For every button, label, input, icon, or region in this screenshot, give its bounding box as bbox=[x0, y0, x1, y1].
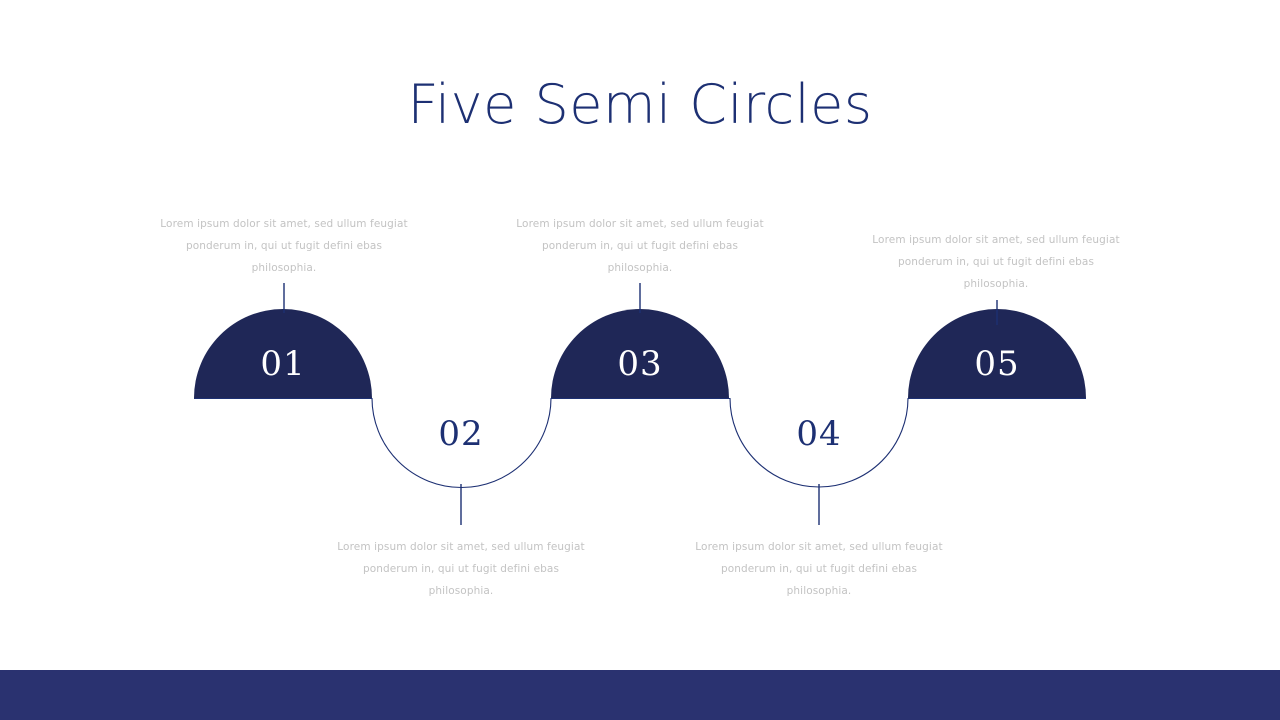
step-number-03[interactable]: 03 bbox=[550, 347, 730, 381]
step-number-01[interactable]: 01 bbox=[193, 347, 373, 381]
step-number-02[interactable]: 02 bbox=[371, 417, 551, 451]
slide-canvas: Five Semi Circles 01 02 03 04 05 Lorem i… bbox=[0, 0, 1280, 720]
step-description-05: Lorem ipsum dolor sit amet, sed ullum fe… bbox=[872, 229, 1120, 295]
step-description-04: Lorem ipsum dolor sit amet, sed ullum fe… bbox=[695, 536, 943, 602]
step-description-03: Lorem ipsum dolor sit amet, sed ullum fe… bbox=[516, 213, 764, 279]
step-description-02: Lorem ipsum dolor sit amet, sed ullum fe… bbox=[337, 536, 585, 602]
step-description-01: Lorem ipsum dolor sit amet, sed ullum fe… bbox=[160, 213, 408, 279]
footer-band bbox=[0, 670, 1280, 720]
step-number-05[interactable]: 05 bbox=[907, 347, 1087, 381]
page-title: Five Semi Circles bbox=[0, 78, 1280, 132]
step-number-04[interactable]: 04 bbox=[729, 417, 909, 451]
